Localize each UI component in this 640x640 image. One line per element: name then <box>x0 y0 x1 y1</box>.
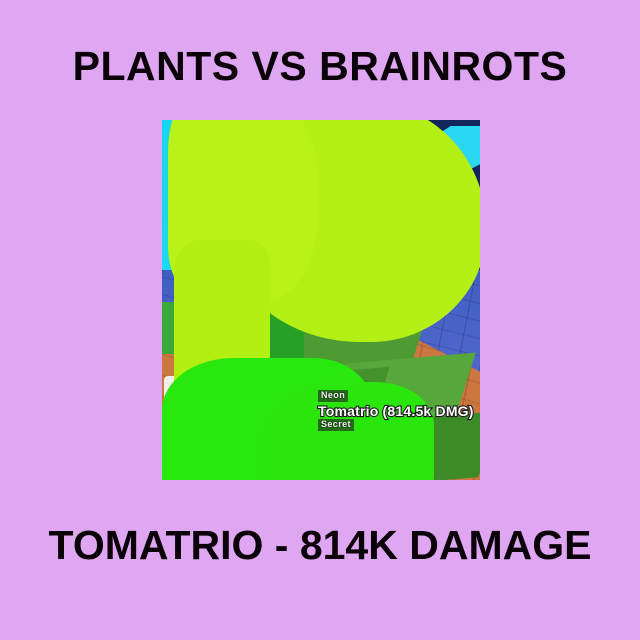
unit-nametag: Neon Tomatrio (814.5k DMG) Secret <box>318 390 476 431</box>
poster-canvas: PLANTS VS BRAINROTS <box>0 0 640 640</box>
page-caption: TOMATRIO - 814K DAMAGE <box>0 525 640 566</box>
nametag-rarity-bottom: Secret <box>318 419 354 431</box>
nametag-rarity-top: Neon <box>318 390 348 402</box>
game-screenshot: Neon Tomatrio (814.5k DMG) Secret <box>162 120 480 480</box>
nametag-main-label: Tomatrio (814.5k DMG) <box>318 404 476 418</box>
page-title: PLANTS VS BRAINROTS <box>0 46 640 87</box>
